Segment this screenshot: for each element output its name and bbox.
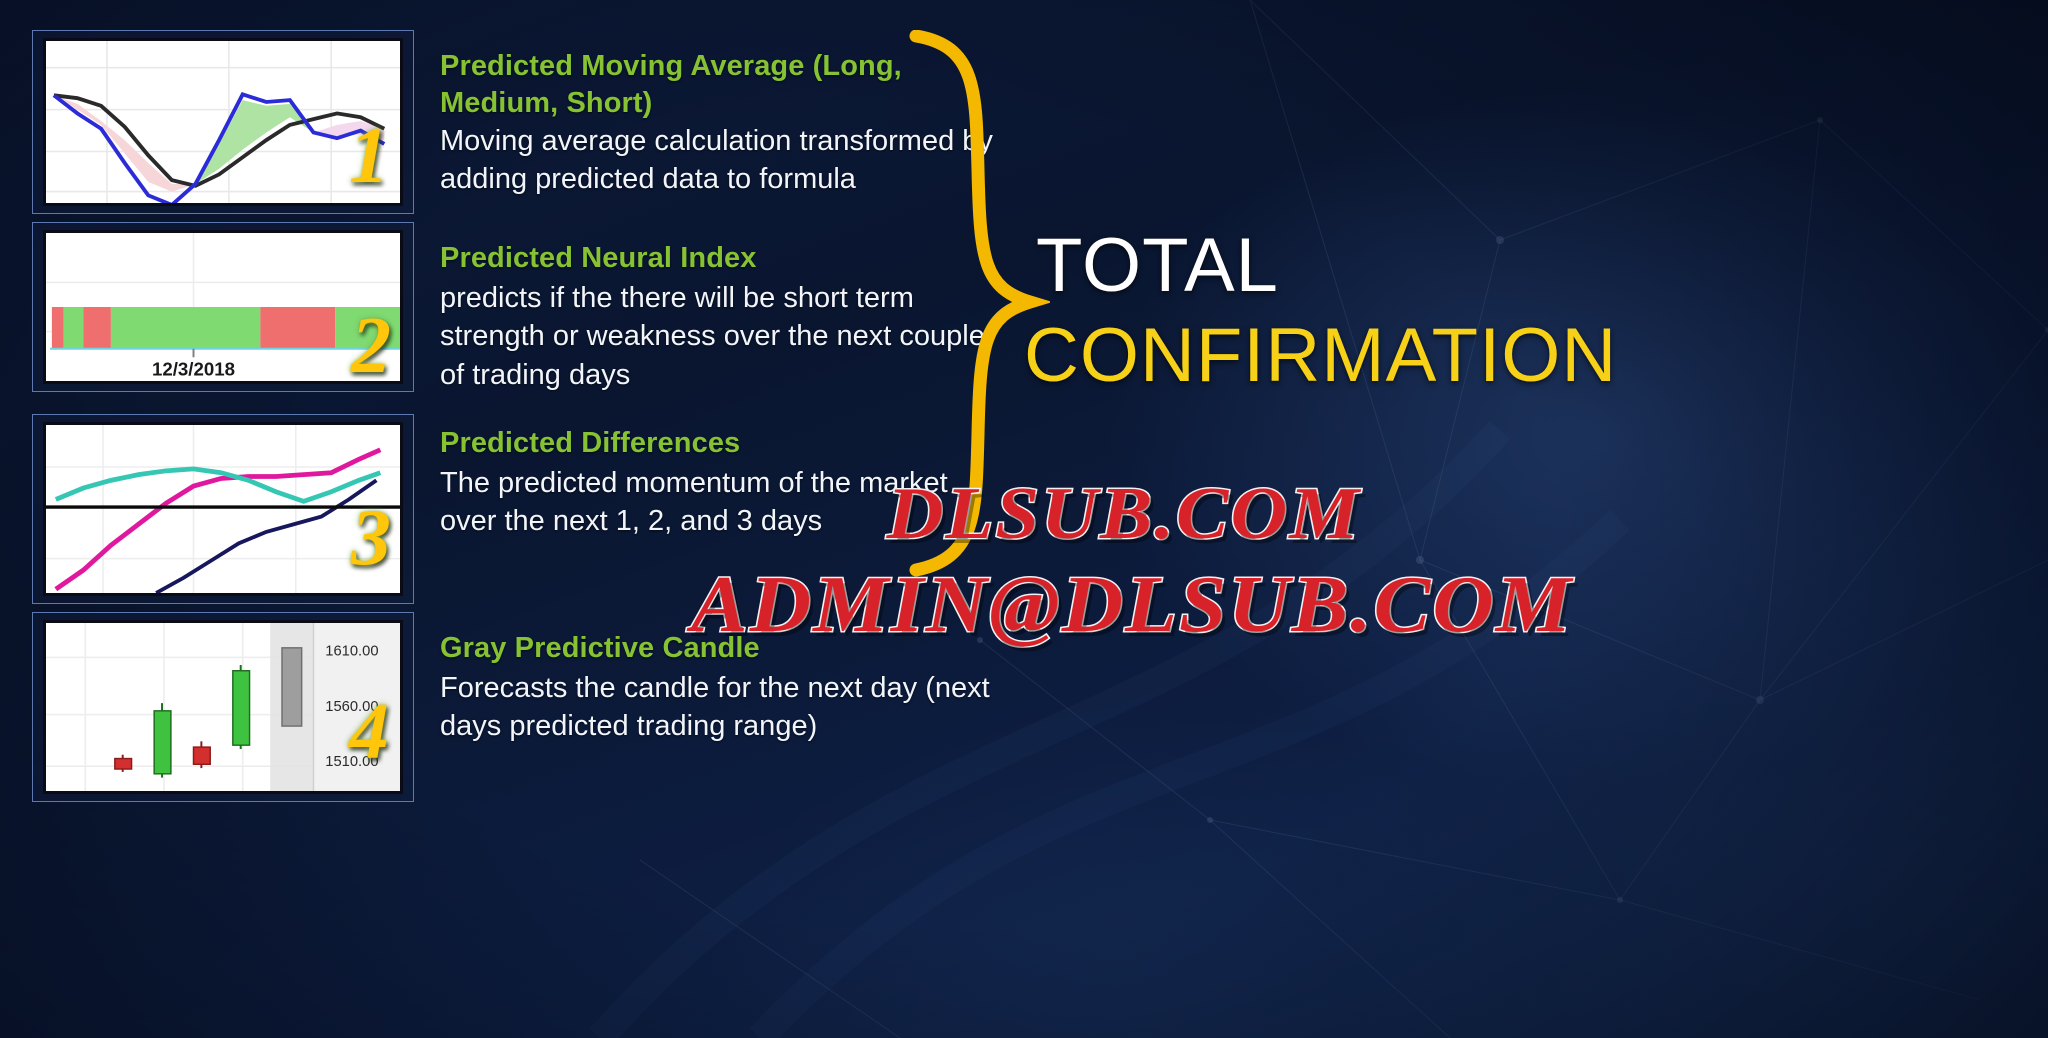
chart-3-canvas (43, 422, 403, 596)
feature-number-4: 4 (349, 692, 389, 772)
predicted-moving-average-chart (46, 41, 400, 203)
callout-line-2: CONFIRMATION (1024, 318, 1617, 394)
gray-predictive-candle-chart: 1610.00 1560.00 1510.00 (46, 623, 400, 791)
candle-2 (154, 703, 171, 777)
predicted-candle-band (270, 623, 313, 791)
predicted-neural-index-chart: 12/3/2018 (46, 233, 400, 381)
callout-line-1: TOTAL (1036, 228, 1279, 304)
feature-number-3: 3 (351, 498, 391, 578)
neural-index-bars (52, 307, 400, 349)
feature-number-1: 1 (349, 116, 389, 196)
watermark-site: DLSUB.COM (887, 472, 1362, 557)
predicted-differences-chart (46, 425, 400, 593)
chart-2-canvas: 12/3/2018 (43, 230, 403, 384)
feature-number-2: 2 (351, 306, 391, 386)
watermark-email: ADMIN@DLSUB.COM (691, 560, 1573, 651)
x-axis-tick-label: 12/3/2018 (152, 359, 235, 380)
price-tick-1: 1610.00 (325, 644, 378, 660)
feature-body-4: Forecasts the candle for the next day (n… (440, 669, 1000, 746)
candle-4 (233, 665, 250, 749)
